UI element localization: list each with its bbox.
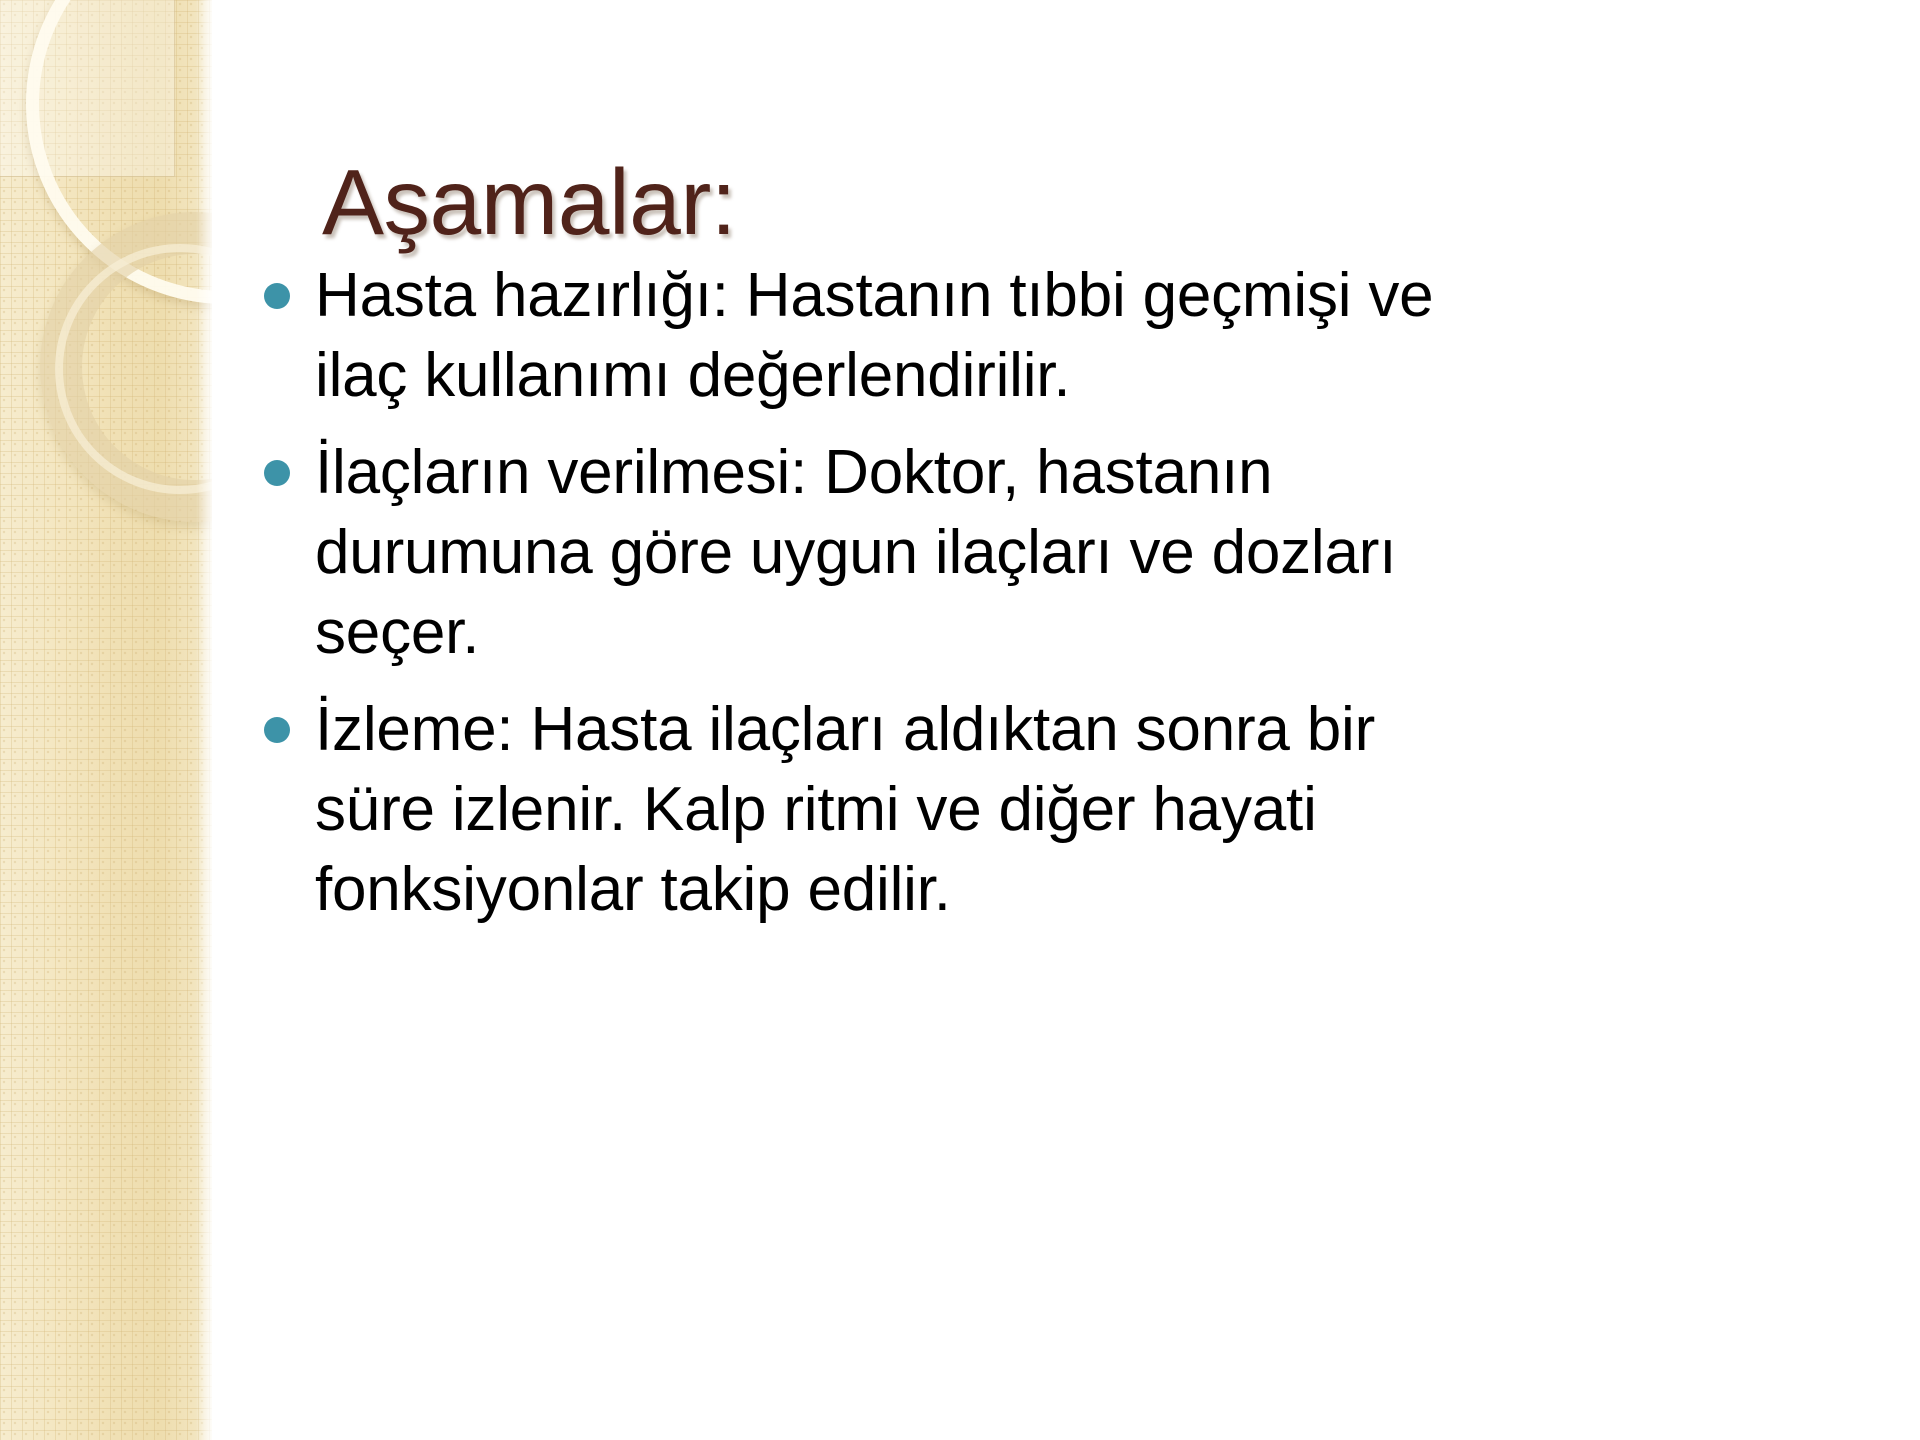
bullet-item-3-text: İzleme: Hasta ilaçları aldıktan sonra bi…: [315, 690, 1505, 930]
bullet-dot-icon: [264, 717, 290, 743]
bullet-item-1: Hasta hazırlığı: Hastanın tıbbi geçmişi …: [264, 256, 1804, 416]
bullet-item-2-text: İlaçların verilmesi: Doktor, hastanın du…: [315, 433, 1540, 673]
bullet-item-2: İlaçların verilmesi: Doktor, hastanın du…: [264, 433, 1804, 673]
slide-content-area: Aşamalar: Hasta hazırlığı: Hastanın tıbb…: [212, 0, 1920, 1440]
bullet-dot-icon: [264, 460, 290, 486]
bullet-list: Hasta hazırlığı: Hastanın tıbbi geçmişi …: [264, 256, 1804, 947]
slide-title: Aşamalar:: [322, 154, 736, 251]
bullet-item-1-text: Hasta hazırlığı: Hastanın tıbbi geçmişi …: [315, 256, 1505, 416]
decorative-sidebar: [0, 0, 212, 1440]
presentation-slide: Aşamalar: Hasta hazırlığı: Hastanın tıbb…: [0, 0, 1920, 1440]
bullet-dot-icon: [264, 283, 290, 309]
bullet-item-3: İzleme: Hasta ilaçları aldıktan sonra bi…: [264, 690, 1804, 930]
sidebar-edge-highlight: [196, 0, 212, 1440]
